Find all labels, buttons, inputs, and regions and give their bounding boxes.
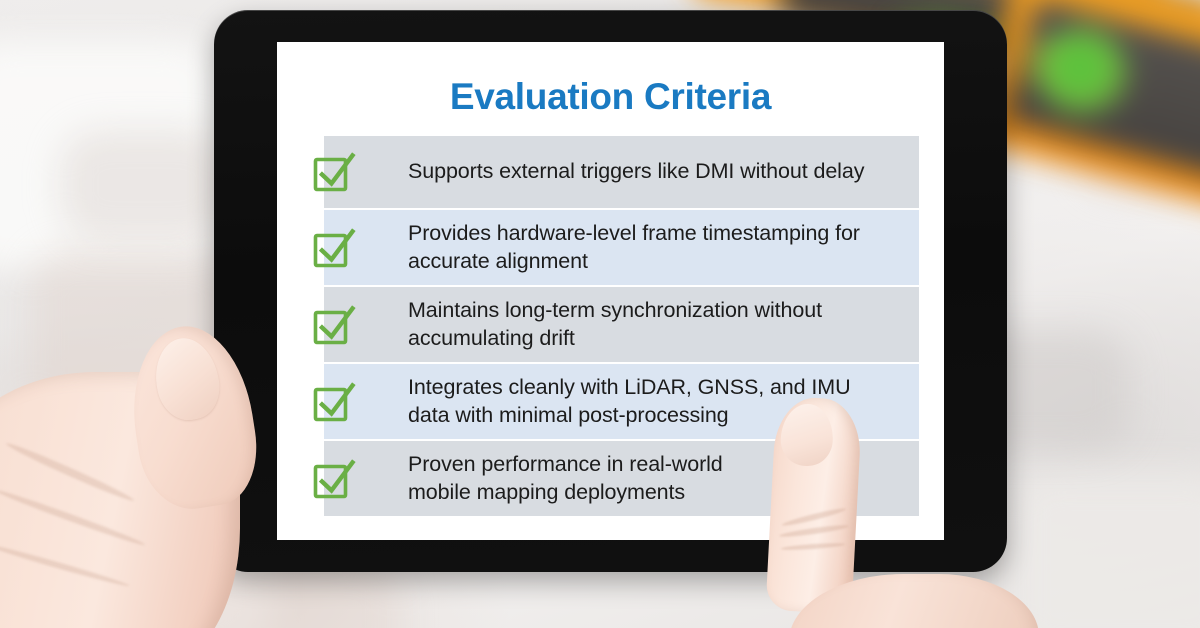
page-title: Evaluation Criteria <box>277 76 944 118</box>
screenshot-stage: Evaluation Criteria Supports external tr… <box>0 0 1200 628</box>
checkbox-checked-icon[interactable] <box>311 456 357 502</box>
list-item-label: Maintains long-term synchronization with… <box>408 297 822 351</box>
list-item[interactable]: Provides hardware-level frame timestampi… <box>324 210 919 285</box>
background-blur-blob <box>1010 470 1200 628</box>
checkbox-checked-icon[interactable] <box>311 302 357 348</box>
checkbox-checked-icon[interactable] <box>311 149 357 195</box>
tablet-screen[interactable]: Evaluation Criteria Supports external tr… <box>277 42 944 540</box>
list-item[interactable]: Integrates cleanly with LiDAR, GNSS, and… <box>324 364 919 439</box>
list-item-label: Integrates cleanly with LiDAR, GNSS, and… <box>408 374 851 428</box>
list-item-label: Provides hardware-level frame timestampi… <box>408 220 860 274</box>
background-blur-blob <box>30 250 240 420</box>
background-blur-blob <box>60 130 230 240</box>
checkbox-checked-icon[interactable] <box>311 225 357 271</box>
list-item[interactable]: Proven performance in real-world mobile … <box>324 441 919 516</box>
list-item-label: Proven performance in real-world mobile … <box>408 451 723 505</box>
list-item[interactable]: Supports external triggers like DMI with… <box>324 136 919 208</box>
list-item-label: Supports external triggers like DMI with… <box>408 158 864 185</box>
criteria-list: Supports external triggers like DMI with… <box>324 136 919 518</box>
list-item[interactable]: Maintains long-term synchronization with… <box>324 287 919 362</box>
checkbox-checked-icon[interactable] <box>311 379 357 425</box>
tablet-device: Evaluation Criteria Supports external tr… <box>214 10 1007 572</box>
